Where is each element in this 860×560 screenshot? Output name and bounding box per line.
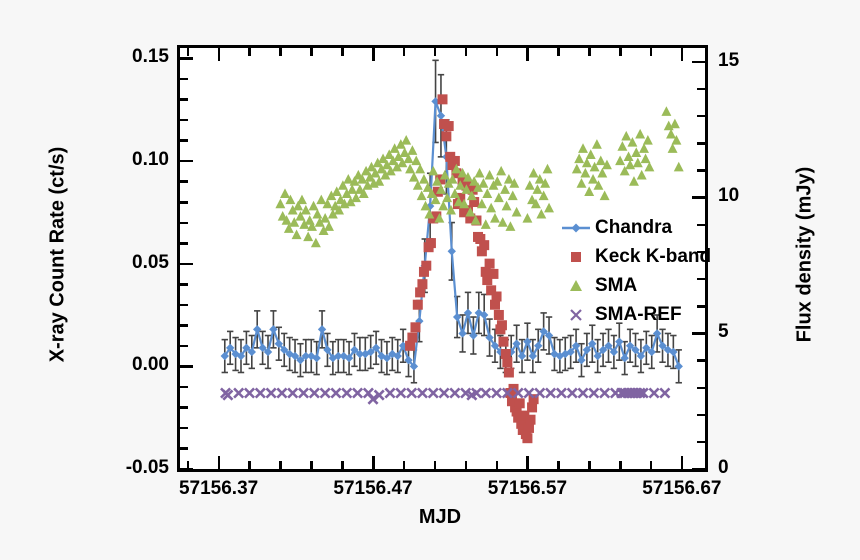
data-point: [324, 221, 334, 231]
data-point: [256, 388, 265, 397]
data-point: [417, 190, 427, 200]
data-point: [502, 201, 512, 211]
data-point: [596, 156, 606, 166]
x-tick-minor: [341, 461, 344, 469]
y-tick-minor-left: [180, 447, 188, 450]
data-point: [592, 139, 602, 149]
data-point: [578, 143, 588, 153]
data-point: [644, 162, 654, 172]
data-point: [401, 135, 411, 145]
y-tick-major-right: [692, 61, 705, 64]
data-point: [481, 219, 491, 229]
data-point: [421, 261, 431, 271]
data-point: [479, 240, 489, 250]
data-point: [617, 141, 627, 151]
data-point: [347, 184, 357, 194]
data-point: [653, 329, 661, 337]
data-point: [525, 180, 535, 190]
data-point: [496, 166, 506, 176]
x-tick-minor-top: [465, 48, 468, 56]
x-tick-minor-top: [403, 48, 406, 56]
x-tick-major-top: [372, 48, 375, 61]
y-tick-minor-left: [180, 98, 188, 101]
data-point: [639, 143, 649, 153]
data-point: [297, 195, 307, 205]
data-point: [600, 190, 610, 200]
data-point: [437, 112, 445, 120]
data-point: [299, 388, 308, 397]
data-point: [497, 320, 507, 330]
x-tick-minor: [248, 461, 251, 469]
data-point: [574, 153, 584, 163]
data-point: [577, 178, 587, 188]
data-point: [557, 388, 566, 397]
data-point: [450, 156, 460, 166]
data-point: [312, 209, 322, 219]
legend: ChandraKeck K-bandSMASMA-REF: [560, 216, 711, 327]
square-marker-icon: [560, 247, 592, 267]
x-tick-minor-top: [434, 48, 437, 56]
data-point: [482, 188, 492, 198]
data-point: [405, 164, 415, 174]
data-point: [481, 388, 490, 397]
data-point: [269, 325, 277, 333]
x-tick-major: [681, 456, 684, 469]
data-point: [641, 153, 651, 163]
data-point: [629, 176, 639, 186]
data-point: [600, 388, 609, 397]
data-point: [267, 388, 276, 397]
cross-marker-icon: [560, 305, 592, 325]
data-point: [280, 188, 290, 198]
x-tick-major-top: [681, 48, 684, 61]
y-tick-label-right: 5: [718, 321, 778, 343]
data-point: [522, 433, 532, 443]
y-tick-minor-right: [697, 414, 705, 417]
data-point: [523, 337, 531, 345]
legend-label: SMA: [595, 275, 637, 297]
data-point: [245, 388, 254, 397]
legend-label: Chandra: [595, 217, 672, 239]
data-point: [316, 195, 326, 205]
y-tick-minor-left: [180, 283, 188, 286]
x-tick-major: [218, 456, 221, 469]
legend-item-chandra[interactable]: Chandra: [560, 216, 711, 240]
x-tick-label: 57156.67: [612, 478, 752, 500]
data-point: [597, 168, 607, 178]
legend-label: SMA-REF: [595, 304, 682, 326]
data-point: [448, 247, 456, 255]
data-point: [615, 156, 625, 166]
data-point: [475, 168, 485, 178]
y-tick-minor-right: [697, 169, 705, 172]
data-point: [660, 388, 669, 397]
data-point: [321, 388, 330, 397]
y-tick-minor-left: [180, 180, 188, 183]
legend-item-sma-ref[interactable]: SMA-REF: [560, 303, 711, 327]
data-point: [498, 337, 508, 347]
y-axis-title-left: X-ray Count Rate (ct/s): [47, 105, 70, 405]
y-tick-minor-left: [180, 427, 188, 430]
data-point: [418, 388, 427, 397]
data-point: [534, 342, 542, 350]
data-point: [515, 398, 525, 408]
data-point: [453, 313, 461, 321]
data-point: [586, 149, 596, 159]
x-tick-minor-top: [279, 48, 282, 56]
data-point: [342, 388, 351, 397]
x-tick-label: 57156.47: [303, 478, 443, 500]
data-point: [275, 199, 285, 209]
data-point: [458, 329, 466, 337]
data-point: [407, 333, 417, 343]
data-point: [535, 388, 544, 397]
data-point: [288, 388, 297, 397]
x-tick-minor: [310, 461, 313, 469]
data-point: [485, 259, 495, 269]
triangle-marker-icon: [560, 276, 592, 296]
y-tick-minor-left: [180, 242, 188, 245]
y-tick-minor-left: [180, 304, 188, 307]
x-tick-minor: [619, 461, 622, 469]
y-tick-label-right: 15: [718, 50, 778, 72]
data-point: [409, 172, 419, 182]
data-point: [331, 388, 340, 397]
y-tick-minor-left: [180, 139, 188, 142]
y-tick-minor-left: [180, 222, 188, 225]
y-tick-major-left: [180, 468, 193, 471]
x-tick-minor: [403, 461, 406, 469]
y-tick-minor-left: [180, 78, 188, 81]
y-tick-major-left: [180, 57, 193, 60]
y-tick-minor-right: [697, 359, 705, 362]
data-point: [512, 207, 522, 217]
y-tick-minor-left: [180, 386, 188, 389]
data-point: [310, 388, 319, 397]
data-point: [411, 156, 421, 166]
data-point: [536, 209, 546, 219]
data-point: [426, 238, 436, 248]
data-point: [429, 388, 438, 397]
x-tick-major-top: [218, 48, 221, 61]
data-point: [580, 168, 590, 178]
data-point: [478, 178, 488, 188]
x-tick-minor-top: [496, 48, 499, 56]
data-point: [670, 119, 680, 129]
x-tick-label: 57156.57: [457, 478, 597, 500]
y-tick-minor-right: [697, 387, 705, 390]
y-tick-label-right: 10: [718, 185, 778, 207]
figure-root: 2015 May 14 flare 57156.3757156.4757156.…: [0, 0, 860, 560]
data-point: [492, 176, 502, 186]
data-point: [303, 232, 313, 242]
x-tick-minor: [279, 461, 282, 469]
y-tick-minor-right: [697, 441, 705, 444]
data-point: [234, 388, 243, 397]
markers: [221, 388, 670, 403]
x-tick-minor-top: [248, 48, 251, 56]
data-point: [438, 201, 448, 211]
x-axis-title: MJD: [380, 506, 500, 529]
data-point: [666, 129, 676, 139]
data-point: [292, 229, 302, 239]
data-point: [444, 121, 454, 131]
data-point: [464, 309, 472, 317]
data-point: [589, 388, 598, 397]
y-tick-minor-left: [180, 345, 188, 348]
data-point: [621, 354, 629, 362]
y-axis-title-right: Flux density (mJy): [794, 105, 817, 405]
legend-label: Keck K-band: [595, 246, 711, 268]
x-tick-major: [372, 456, 375, 469]
x-tick-minor-top: [557, 48, 560, 56]
data-point: [502, 357, 512, 367]
data-point: [625, 160, 635, 170]
data-point: [544, 203, 554, 213]
series-sma-ref: [221, 388, 670, 403]
data-point: [450, 388, 459, 397]
data-point: [492, 388, 501, 397]
x-tick-minor: [496, 461, 499, 469]
data-point: [508, 190, 518, 200]
data-point: [407, 145, 417, 155]
data-point: [438, 94, 448, 104]
data-point: [568, 388, 577, 397]
data-point: [441, 131, 451, 141]
data-point: [439, 388, 448, 397]
chandra-marker-icon: [560, 218, 592, 238]
data-point: [305, 215, 315, 225]
data-point: [407, 388, 416, 397]
data-point: [615, 337, 623, 345]
data-point: [529, 168, 539, 178]
data-point: [494, 310, 504, 320]
data-point: [543, 164, 553, 174]
data-point: [486, 203, 496, 213]
x-tick-label: 57156.37: [149, 478, 289, 500]
data-point: [649, 388, 658, 397]
data-point: [413, 300, 423, 310]
data-point: [419, 174, 429, 184]
x-tick-minor-top: [619, 48, 622, 56]
y-tick-minor-left: [180, 201, 188, 204]
x-tick-minor-top: [588, 48, 591, 56]
data-point: [577, 356, 585, 364]
data-point: [526, 415, 536, 425]
y-tick-major-left: [180, 365, 193, 368]
data-point: [494, 193, 504, 203]
data-point: [546, 388, 555, 397]
data-point: [661, 106, 671, 116]
y-tick-minor-right: [697, 88, 705, 91]
x-tick-major-top: [526, 48, 529, 61]
y-tick-major-left: [180, 160, 193, 163]
data-point: [674, 162, 684, 172]
data-point: [428, 166, 438, 176]
data-point: [522, 213, 532, 223]
data-point: [492, 291, 502, 301]
data-point: [253, 325, 261, 333]
data-point: [309, 201, 319, 211]
data-point: [621, 131, 631, 141]
data-point: [668, 143, 678, 153]
y-tick-major-left: [180, 263, 193, 266]
data-point: [500, 184, 510, 194]
data-point: [588, 174, 598, 184]
data-point: [485, 170, 495, 180]
data-point: [675, 362, 683, 370]
x-tick-minor: [557, 461, 560, 469]
x-tick-minor-top: [187, 48, 190, 56]
data-point: [415, 164, 425, 174]
y-tick-major-right: [692, 332, 705, 335]
data-point: [353, 388, 362, 397]
data-point: [396, 388, 405, 397]
x-tick-minor: [465, 461, 468, 469]
data-point: [318, 325, 326, 333]
data-point: [490, 213, 500, 223]
data-point: [488, 269, 498, 279]
data-point: [584, 186, 594, 196]
y-tick-label-left: 0.15: [45, 46, 169, 68]
x-tick-minor: [434, 461, 437, 469]
x-tick-minor-top: [310, 48, 313, 56]
data-point: [504, 367, 514, 377]
x-tick-minor-top: [341, 48, 344, 56]
data-point: [529, 352, 537, 360]
y-tick-minor-left: [180, 324, 188, 327]
y-tick-minor-left: [180, 119, 188, 122]
data-point: [417, 279, 427, 289]
x-tick-minor: [588, 461, 591, 469]
data-point: [578, 388, 587, 397]
y-tick-minor-left: [180, 406, 188, 409]
data-point: [277, 388, 286, 397]
y-tick-minor-right: [697, 142, 705, 145]
data-point: [572, 164, 582, 174]
data-point: [518, 352, 526, 360]
data-point: [311, 238, 321, 248]
data-point: [385, 388, 394, 397]
legend-item-sma[interactable]: SMA: [560, 274, 711, 298]
y-tick-label-left: -0.05: [45, 457, 169, 479]
data-point: [643, 135, 653, 145]
data-point: [469, 331, 477, 339]
legend-item-keck-k-band[interactable]: Keck K-band: [560, 245, 711, 269]
y-tick-minor-right: [697, 115, 705, 118]
y-tick-major-right: [692, 468, 705, 471]
x-tick-minor: [650, 461, 653, 469]
data-point: [635, 129, 645, 139]
x-tick-minor-top: [650, 48, 653, 56]
data-point: [410, 322, 420, 332]
data-point: [637, 170, 647, 180]
y-tick-major-right: [692, 196, 705, 199]
x-tick-major: [526, 456, 529, 469]
y-tick-label-right: 0: [718, 457, 778, 479]
